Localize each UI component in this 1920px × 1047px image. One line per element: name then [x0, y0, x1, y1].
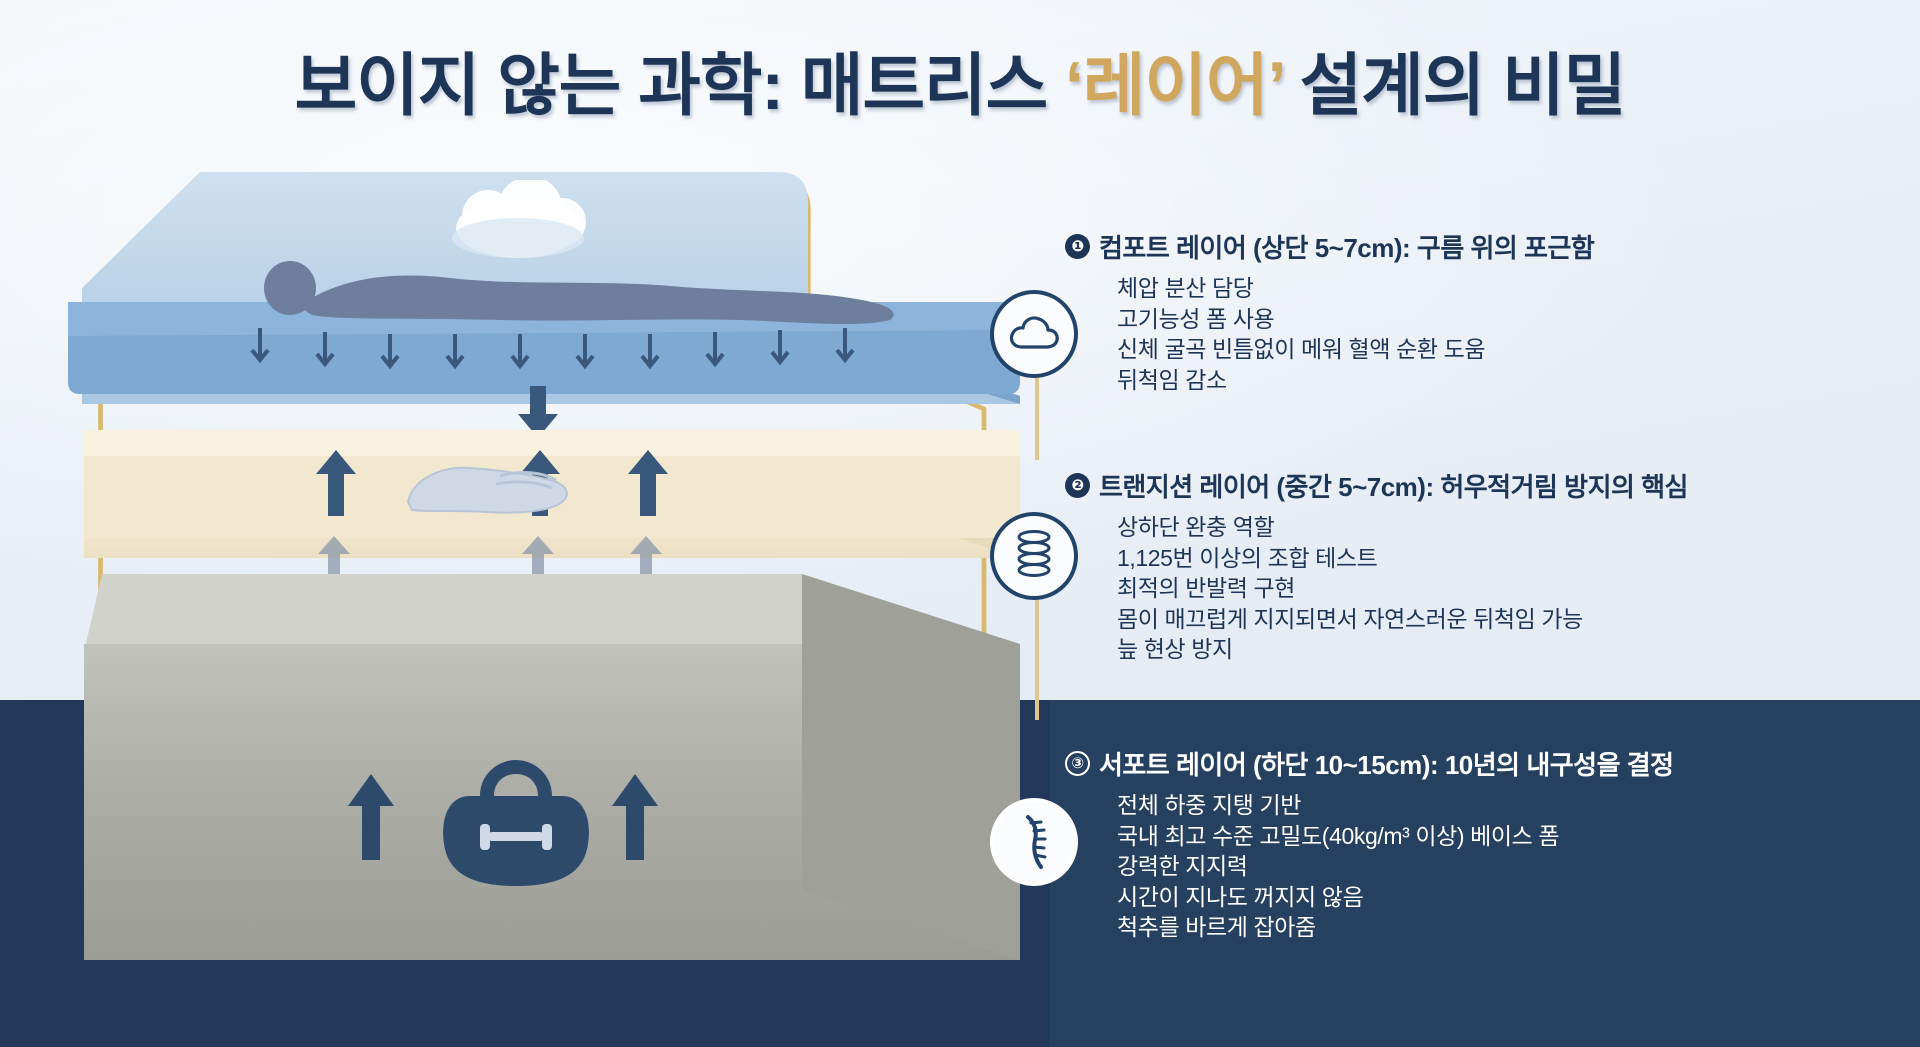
section-1-badge: ❶ — [1065, 234, 1090, 259]
page-title: 보이지 않는 과학: 매트리스 ‘레이어’ 설계의 비밀 — [0, 30, 1920, 129]
section-transition-layer: ❷ 트랜지션 레이어 (중간 5~7cm): 허우적거림 방지의 핵심 상하단 … — [1065, 467, 1895, 665]
section-3-title: 서포트 레이어 (하단 10~15cm): 10년의 내구성을 결정 — [1099, 745, 1674, 782]
section-2-heading: ❷ 트랜지션 레이어 (중간 5~7cm): 허우적거림 방지의 핵심 — [1065, 467, 1895, 504]
spine-icon — [1011, 813, 1057, 871]
section-3-line-4: 시간이 지나도 꺼지지 않음 — [1117, 882, 1895, 913]
pressure-arrows-down — [252, 328, 853, 366]
section-1-body: 체압 분산 담당 고기능성 폼 사용 신체 굴곡 빈틈없이 메워 혈액 순환 도… — [1117, 273, 1895, 395]
section-2-line-4: 몸이 매끄럽게 지지되면서 자연스러운 뒤척임 가능 — [1117, 604, 1895, 635]
section-3-line-3: 강력한 지지력 — [1117, 851, 1895, 882]
section-1-line-2: 고기능성 폼 사용 — [1117, 304, 1895, 335]
infographic-canvas: 보이지 않는 과학: 매트리스 ‘레이어’ 설계의 비밀 — [0, 0, 1920, 1047]
cloud-graphic — [452, 180, 586, 258]
coil-spring-icon — [1010, 528, 1058, 584]
section-3-line-1: 전체 하중 지탱 기반 — [1117, 790, 1895, 821]
sleeping-person-silhouette — [264, 261, 894, 324]
section-2-line-2: 1,125번 이상의 조합 테스트 — [1117, 543, 1895, 574]
section-2-body: 상하단 완충 역할 1,125번 이상의 조합 테스트 최적의 반발력 구현 몸… — [1117, 512, 1895, 665]
kettlebell-weight-icon — [443, 760, 589, 886]
title-part-before: 보이지 않는 과학: 매트리스 — [295, 48, 1065, 124]
section-3-line-5: 척추를 바르게 잡아줌 — [1117, 912, 1895, 943]
section-2-line-1: 상하단 완충 역할 — [1117, 512, 1895, 543]
section-1-heading: ❶ 컴포트 레이어 (상단 5~7cm): 구름 위의 포근함 — [1065, 228, 1895, 265]
section-1-line-4: 뒤척임 감소 — [1117, 365, 1895, 396]
section-3-body: 전체 하중 지탱 기반 국내 최고 수준 고밀도(40kg/m³ 이상) 베이스… — [1117, 790, 1895, 943]
transition-layer-icons — [300, 440, 720, 550]
section-support-layer: ③ 서포트 레이어 (하단 10~15cm): 10년의 내구성을 결정 전체 … — [1065, 745, 1895, 943]
section-2-line-5: 늪 현상 방지 — [1117, 634, 1895, 665]
section-2-badge: ❷ — [1065, 473, 1090, 498]
section-3-line-2: 국내 최고 수준 고밀도(40kg/m³ 이상) 베이스 폼 — [1117, 821, 1895, 852]
section-1-line-1: 체압 분산 담당 — [1117, 273, 1895, 304]
hand-pressing-graphic — [408, 468, 567, 513]
support-layer-icons — [330, 760, 750, 900]
section-comfort-layer: ❶ 컴포트 레이어 (상단 5~7cm): 구름 위의 포근함 체압 분산 담당… — [1065, 228, 1895, 395]
section-3-badge: ③ — [1065, 751, 1090, 776]
section-3-heading: ③ 서포트 레이어 (하단 10~15cm): 10년의 내구성을 결정 — [1065, 745, 1895, 782]
sleeper-and-cloud-illustration — [200, 180, 940, 390]
title-part-after: 설계의 비밀 — [1284, 48, 1626, 124]
title-accent-word: ‘레이어’ — [1065, 48, 1284, 124]
section-1-title: 컴포트 레이어 (상단 5~7cm): 구름 위의 포근함 — [1099, 228, 1594, 265]
section-2-title: 트랜지션 레이어 (중간 5~7cm): 허우적거림 방지의 핵심 — [1099, 467, 1688, 504]
cloud-icon — [1008, 313, 1060, 355]
section-2-line-3: 최적의 반발력 구현 — [1117, 573, 1895, 604]
section-1-line-3: 신체 굴곡 빈틈없이 메워 혈액 순환 도움 — [1117, 334, 1895, 365]
